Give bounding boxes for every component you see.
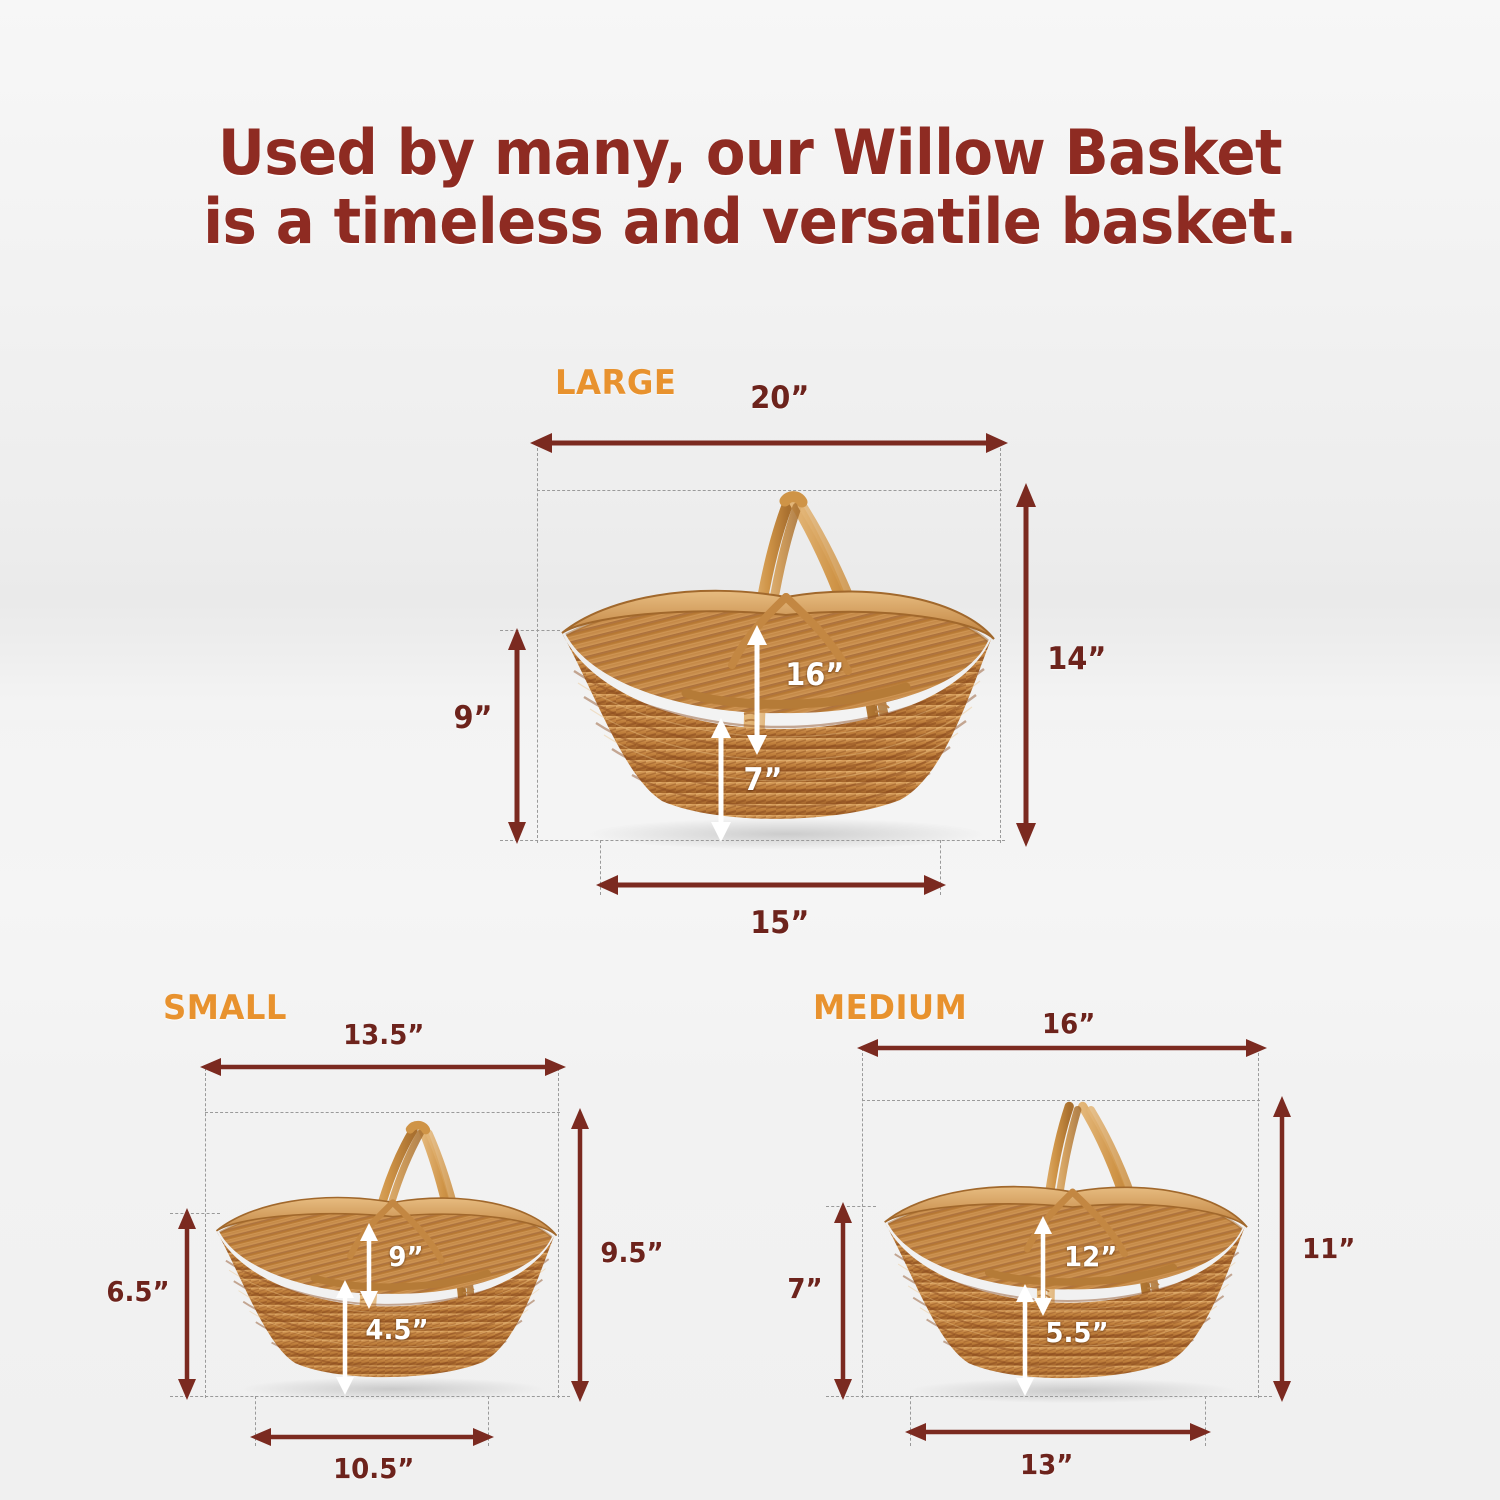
dimension-arrow-depth-small bbox=[334, 1280, 356, 1395]
dimension-arrow-height-medium bbox=[1270, 1096, 1294, 1402]
dimension-arrow-base-width-small bbox=[250, 1425, 494, 1449]
dimension-label-width-small: 13.5” bbox=[343, 1018, 424, 1051]
dimension-label-basket-height-medium: 7” bbox=[787, 1272, 822, 1305]
dimension-arrow-basket-height-large bbox=[505, 628, 529, 844]
size-label-large: LARGE bbox=[555, 363, 676, 403]
dimension-label-width-medium: 16” bbox=[1042, 1007, 1095, 1040]
dimension-label-height-small: 9.5” bbox=[600, 1236, 663, 1269]
size-label-medium: MEDIUM bbox=[813, 988, 967, 1028]
dimension-label-base-width-small: 10.5” bbox=[333, 1452, 414, 1485]
dimension-arrow-width-small bbox=[200, 1055, 566, 1079]
dimension-arrow-handle-height-large bbox=[745, 625, 769, 755]
size-label-small: SMALL bbox=[163, 988, 287, 1028]
dimension-arrow-width-large bbox=[530, 430, 1008, 456]
infographic-canvas: Used by many, our Willow Basket is a tim… bbox=[0, 0, 1500, 1500]
dimension-label-width-large: 20” bbox=[750, 380, 809, 416]
basket-image-small bbox=[196, 1110, 566, 1402]
dimension-label-height-large: 14” bbox=[1047, 641, 1106, 677]
dimension-arrow-depth-large bbox=[709, 718, 733, 842]
dimension-arrow-handle-height-small bbox=[358, 1223, 380, 1309]
dimension-arrow-base-width-medium bbox=[905, 1420, 1211, 1444]
dimension-label-depth-large: 7” bbox=[743, 762, 782, 798]
dimension-arrow-height-large bbox=[1013, 483, 1039, 847]
dimension-label-depth-small: 4.5” bbox=[365, 1313, 428, 1346]
dimension-arrow-depth-medium bbox=[1014, 1284, 1036, 1396]
dimension-label-base-width-large: 15” bbox=[750, 905, 809, 941]
dimension-label-depth-medium: 5.5” bbox=[1045, 1316, 1108, 1349]
dimension-label-handle-height-medium: 12” bbox=[1064, 1240, 1117, 1273]
basket-image-medium bbox=[852, 1098, 1268, 1400]
dimension-label-basket-height-small: 6.5” bbox=[106, 1275, 169, 1308]
dimension-label-handle-height-large: 16” bbox=[785, 657, 844, 693]
dimension-arrow-base-width-large bbox=[596, 872, 946, 898]
page-title: Used by many, our Willow Basket is a tim… bbox=[53, 118, 1448, 257]
dimension-label-height-medium: 11” bbox=[1302, 1232, 1355, 1265]
dimension-label-base-width-medium: 13” bbox=[1020, 1448, 1073, 1481]
dimension-label-handle-height-small: 9” bbox=[388, 1240, 423, 1273]
dimension-label-basket-height-large: 9” bbox=[453, 700, 492, 736]
dimension-arrow-height-small bbox=[568, 1108, 592, 1402]
